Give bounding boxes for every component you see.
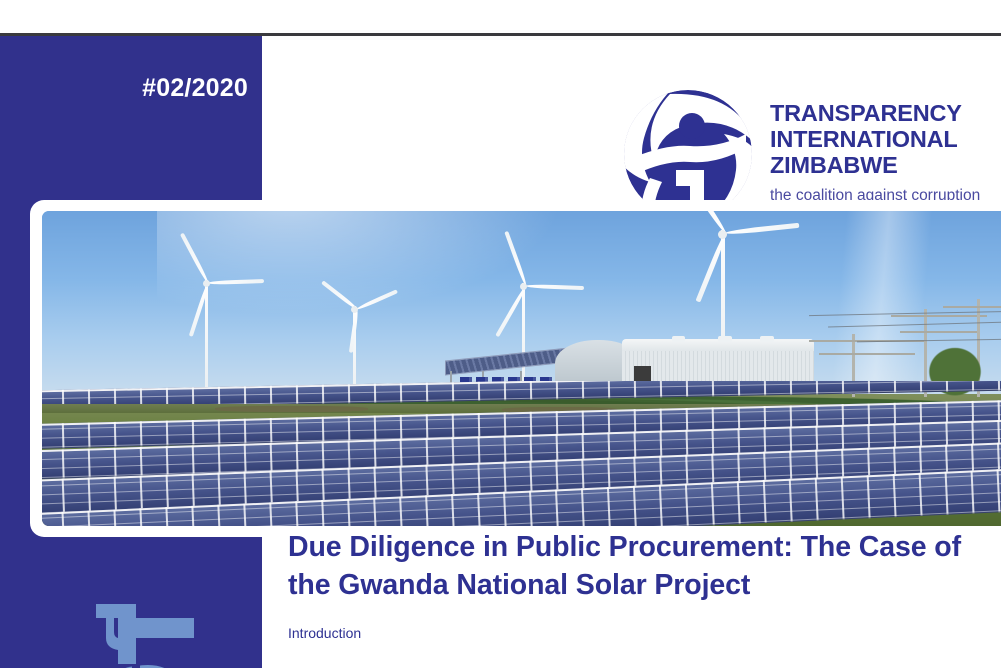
photo-light-haze	[829, 211, 932, 406]
photo-crossarm-3	[891, 315, 987, 317]
photo-crossarm-2	[819, 353, 915, 355]
issue-number-label: #02/2020	[0, 74, 248, 103]
cover-photo-solar-farm	[42, 211, 1001, 526]
organisation-logo: TRANSPARENCY INTERNATIONAL ZIMBABWE the …	[620, 50, 992, 202]
document-viewer: #02/2020	[0, 0, 1001, 668]
document-subtitle: Introduction	[288, 625, 1001, 642]
logo-line-transparency: TRANSPARENCY	[770, 100, 992, 126]
ti-watermark-graphic	[88, 592, 220, 668]
logo-line-international: INTERNATIONAL	[770, 126, 992, 152]
viewer-top-margin	[0, 0, 1001, 33]
logo-line-zimbabwe: ZIMBABWE	[770, 152, 992, 178]
document-page: #02/2020	[0, 36, 1001, 668]
cover-photo-frame	[30, 200, 1001, 537]
photo-dirt-patch	[215, 406, 368, 412]
cover-title-block: Due Diligence in Public Procurement: The…	[288, 528, 1001, 642]
logo-wordmark: TRANSPARENCY INTERNATIONAL ZIMBABWE the …	[770, 100, 992, 205]
photo-solar-panel-field	[42, 381, 1001, 526]
photo-crossarm-4	[900, 331, 977, 333]
document-title: Due Diligence in Public Procurement: The…	[288, 528, 1001, 604]
photo-crossarm-5	[943, 306, 1001, 308]
